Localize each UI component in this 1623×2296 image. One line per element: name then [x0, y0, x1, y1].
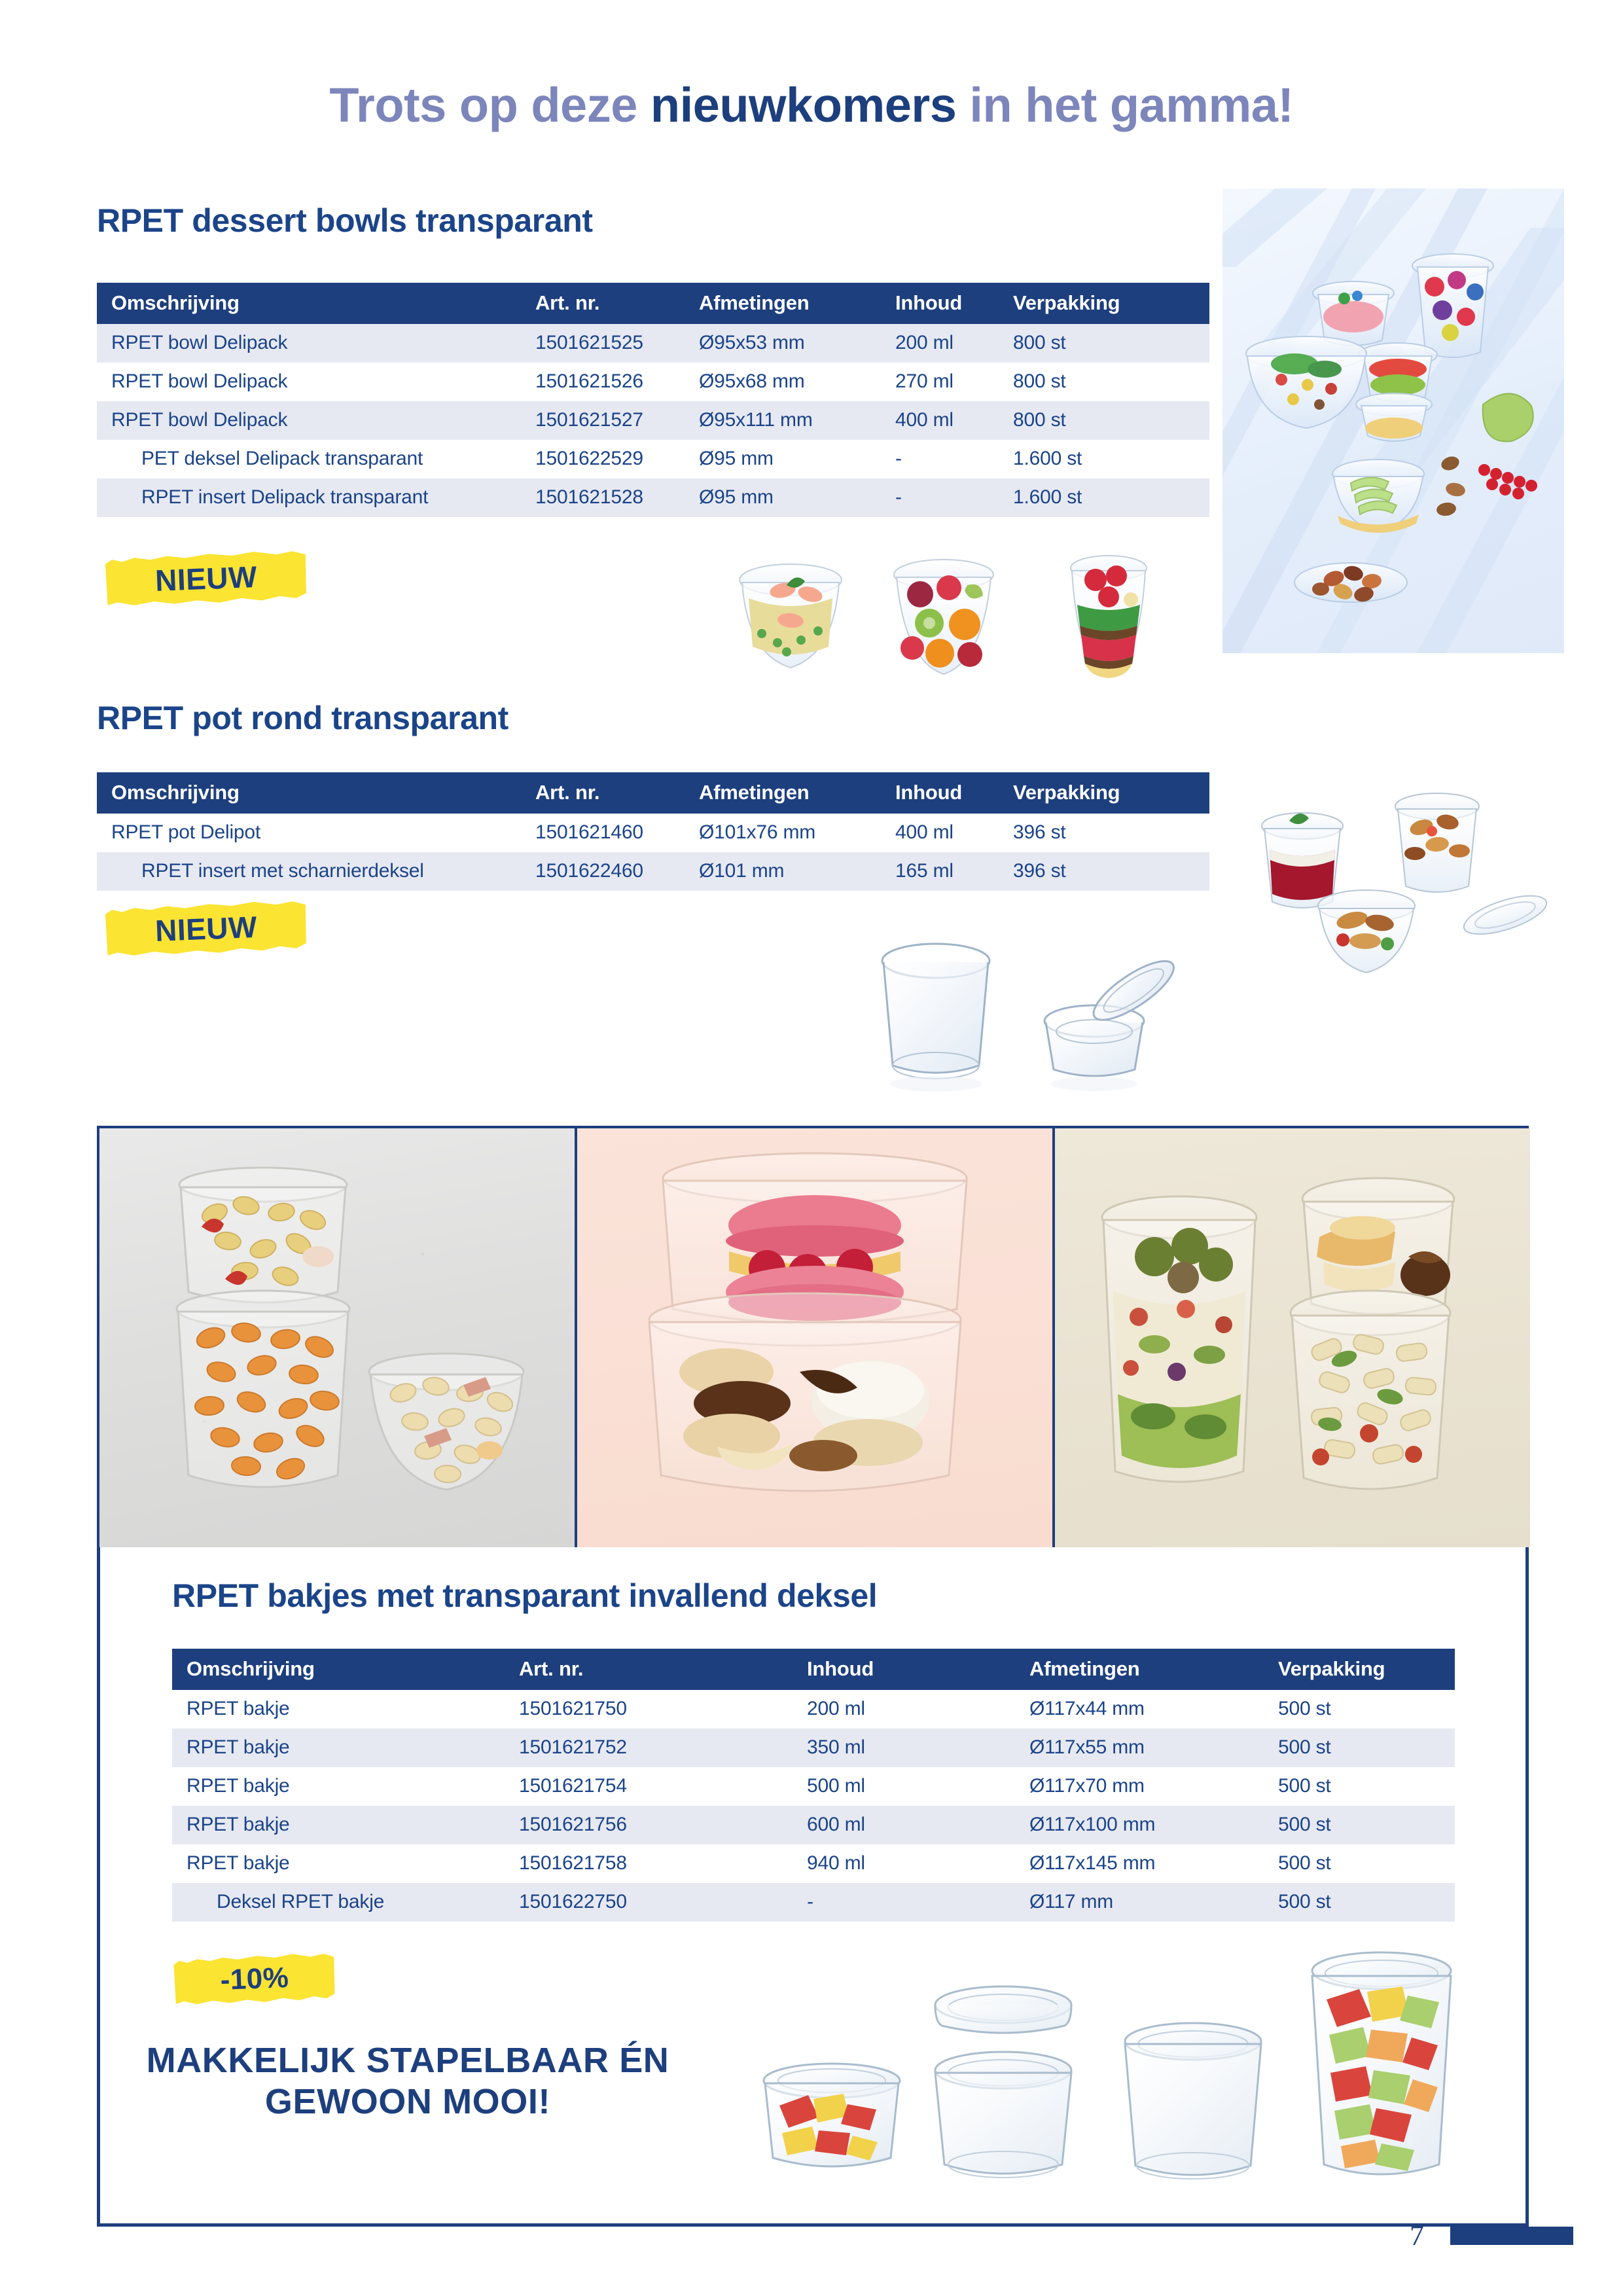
- cell-artnr: 1501622750: [519, 1883, 807, 1922]
- table-row: RPET bakje 1501621754 500 ml Ø117x70 mm …: [172, 1767, 1455, 1806]
- product-photo-dessert-bowls-trio: [713, 542, 1171, 699]
- section-heading-rpet-pot-rond: RPET pot rond transparant: [97, 699, 508, 737]
- cell-afmetingen: Ø117x145 mm: [1029, 1844, 1278, 1883]
- cell-artnr: 1501621526: [535, 363, 699, 401]
- catalog-page: Trots op deze nieuwkomers in het gamma! …: [0, 0, 1623, 2296]
- badge-discount-10: -10%: [173, 1952, 337, 2006]
- product-photo-bakjes-sizes: [741, 1942, 1474, 2204]
- cell-omschrijving: RPET bowl Delipack: [97, 324, 535, 363]
- cell-afmetingen: Ø101 mm: [699, 852, 895, 891]
- page-title: Trots op deze nieuwkomers in het gamma!: [0, 77, 1623, 133]
- cell-inhoud: 400 ml: [895, 401, 1013, 440]
- cell-verpakking: 500 st: [1278, 1844, 1455, 1883]
- cell-verpakking: 800 st: [1013, 401, 1209, 440]
- col-inhoud: Inhoud: [895, 283, 1013, 324]
- cell-artnr: 1501621460: [535, 814, 699, 852]
- cell-verpakking: 500 st: [1278, 1883, 1455, 1922]
- col-afmetingen: Afmetingen: [699, 772, 895, 814]
- photo-macaron-desserts: [577, 1128, 1052, 1547]
- col-omschrijving: Omschrijving: [97, 283, 535, 324]
- col-artnr: Art. nr.: [535, 772, 699, 814]
- cell-omschrijving: RPET bowl Delipack: [97, 401, 535, 440]
- cell-artnr: 1501621754: [519, 1767, 807, 1806]
- col-verpakking: Verpakking: [1013, 283, 1209, 324]
- table-row: RPET bakje 1501621750 200 ml Ø117x44 mm …: [172, 1690, 1455, 1729]
- hero-photo-dessert-bowls: [1222, 188, 1564, 653]
- cell-omschrijving: RPET bakje: [172, 1690, 519, 1729]
- badge-label: NIEUW: [154, 562, 257, 596]
- cell-verpakking: 1.600 st: [1013, 440, 1209, 478]
- cell-afmetingen: Ø95x53 mm: [699, 324, 895, 363]
- cell-inhoud: 165 ml: [895, 852, 1013, 891]
- cell-verpakking: 500 st: [1278, 1767, 1455, 1806]
- cell-inhoud: -: [895, 440, 1013, 478]
- cell-artnr: 1501621527: [535, 401, 699, 440]
- table-row: RPET pot Delipot 1501621460 Ø101x76 mm 4…: [97, 814, 1209, 852]
- pasta-salad-illustration: [99, 1128, 575, 1547]
- col-afmetingen: Afmetingen: [699, 283, 895, 324]
- cell-omschrijving: PET deksel Delipack transparant: [97, 440, 535, 478]
- product-photo-pot-lifestyle: [1243, 766, 1551, 1001]
- cell-verpakking: 800 st: [1013, 363, 1209, 401]
- cell-omschrijving: RPET bakje: [172, 1729, 519, 1767]
- table-rpet-pot-rond: Omschrijving Art. nr. Afmetingen Inhoud …: [97, 772, 1209, 891]
- col-afmetingen: Afmetingen: [1029, 1649, 1278, 1690]
- dessert-bowls-trio-illustration: [713, 542, 1171, 699]
- cell-afmetingen: Ø95x68 mm: [699, 363, 895, 401]
- salad-pasta-cups-illustration: [1055, 1128, 1530, 1547]
- cell-afmetingen: Ø117x100 mm: [1029, 1806, 1278, 1844]
- cell-artnr: 1501621525: [535, 324, 699, 363]
- cell-inhoud: 500 ml: [807, 1767, 1029, 1806]
- pot-lifestyle-illustration: [1243, 766, 1551, 1001]
- cell-afmetingen: Ø95 mm: [699, 440, 895, 478]
- badge-label: NIEUW: [154, 912, 257, 946]
- cell-verpakking: 500 st: [1278, 1690, 1455, 1729]
- table-rpet-dessert-bowls: Omschrijving Art. nr. Afmetingen Inhoud …: [97, 283, 1209, 517]
- hero-photo-illustration: [1222, 188, 1564, 653]
- table-row: RPET insert Delipack transparant 1501621…: [97, 478, 1209, 517]
- table-row: RPET bakje 1501621752 350 ml Ø117x55 mm …: [172, 1729, 1455, 1767]
- cell-omschrijving: RPET insert met scharnierdeksel: [97, 852, 535, 891]
- col-omschrijving: Omschrijving: [172, 1649, 519, 1690]
- col-artnr: Art. nr.: [519, 1649, 807, 1690]
- cell-artnr: 1501621758: [519, 1844, 807, 1883]
- cell-verpakking: 396 st: [1013, 814, 1209, 852]
- cell-omschrijving: RPET bakje: [172, 1767, 519, 1806]
- badge-nieuw-pot-rond: NIEUW: [104, 899, 309, 958]
- product-photo-pot-delipot: [864, 923, 1230, 1100]
- cell-afmetingen: Ø101x76 mm: [699, 814, 895, 852]
- cell-inhoud: 200 ml: [807, 1690, 1029, 1729]
- col-verpakking: Verpakking: [1278, 1649, 1455, 1690]
- photo-band: [99, 1128, 1530, 1547]
- cell-inhoud: 350 ml: [807, 1729, 1029, 1767]
- cell-inhoud: 200 ml: [895, 324, 1013, 363]
- cell-afmetingen: Ø95 mm: [699, 478, 895, 517]
- table-row: RPET bakje 1501621758 940 ml Ø117x145 mm…: [172, 1844, 1455, 1883]
- table-header-row: Omschrijving Art. nr. Afmetingen Inhoud …: [97, 772, 1209, 814]
- col-artnr: Art. nr.: [535, 283, 699, 324]
- col-inhoud: Inhoud: [895, 772, 1013, 814]
- cell-afmetingen: Ø117x44 mm: [1029, 1690, 1278, 1729]
- badge-label: -10%: [220, 1964, 289, 1995]
- section-heading-rpet-dessert-bowls: RPET dessert bowls transparant: [97, 202, 593, 240]
- cell-omschrijving: RPET bakje: [172, 1844, 519, 1883]
- cell-artnr: 1501622529: [535, 440, 699, 478]
- col-verpakking: Verpakking: [1013, 772, 1209, 814]
- table-row: RPET insert met scharnierdeksel 15016224…: [97, 852, 1209, 891]
- cell-artnr: 1501621750: [519, 1690, 807, 1729]
- col-omschrijving: Omschrijving: [97, 772, 535, 814]
- pot-delipot-illustration: [864, 923, 1230, 1100]
- cell-inhoud: -: [807, 1883, 1029, 1922]
- table-row: RPET bowl Delipack 1501621527 Ø95x111 mm…: [97, 401, 1209, 440]
- macaron-desserts-illustration: [577, 1128, 1052, 1547]
- cell-verpakking: 500 st: [1278, 1806, 1455, 1844]
- page-title-highlight: nieuwkomers: [651, 78, 956, 132]
- cell-afmetingen: Ø117x55 mm: [1029, 1729, 1278, 1767]
- photo-pasta-salad-containers: [99, 1128, 575, 1547]
- table-row: RPET bakje 1501621756 600 ml Ø117x100 mm…: [172, 1806, 1455, 1844]
- cell-afmetingen: Ø117x70 mm: [1029, 1767, 1278, 1806]
- table-row: Deksel RPET bakje 1501622750 - Ø117 mm 5…: [172, 1883, 1455, 1922]
- table-header-row: Omschrijving Art. nr. Afmetingen Inhoud …: [97, 283, 1209, 324]
- cell-verpakking: 1.600 st: [1013, 478, 1209, 517]
- cell-artnr: 1501621528: [535, 478, 699, 517]
- table-row: RPET bowl Delipack 1501621526 Ø95x68 mm …: [97, 363, 1209, 401]
- cell-inhoud: 940 ml: [807, 1844, 1029, 1883]
- cell-inhoud: -: [895, 478, 1013, 517]
- cell-omschrijving: RPET insert Delipack transparant: [97, 478, 535, 517]
- cell-artnr: 1501622460: [535, 852, 699, 891]
- cell-omschrijving: Deksel RPET bakje: [172, 1883, 519, 1922]
- cell-afmetingen: Ø95x111 mm: [699, 401, 895, 440]
- table-header-row: Omschrijving Art. nr. Inhoud Afmetingen …: [172, 1649, 1455, 1690]
- photo-salad-pasta-cups: [1055, 1128, 1530, 1547]
- table-row: RPET bowl Delipack 1501621525 Ø95x53 mm …: [97, 324, 1209, 363]
- bakjes-sizes-illustration: [741, 1942, 1474, 2204]
- cell-inhoud: 600 ml: [807, 1806, 1029, 1844]
- cell-artnr: 1501621756: [519, 1806, 807, 1844]
- page-number: 7: [1410, 2219, 1424, 2252]
- badge-nieuw-dessert-bowls: NIEUW: [104, 549, 309, 608]
- cell-omschrijving: RPET bakje: [172, 1806, 519, 1844]
- cell-afmetingen: Ø117 mm: [1029, 1883, 1278, 1922]
- rpet-bakjes-panel: RPET bakjes met transparant invallend de…: [97, 1126, 1529, 2227]
- footer-bar: [1450, 2227, 1573, 2245]
- cell-inhoud: 270 ml: [895, 363, 1013, 401]
- cell-verpakking: 500 st: [1278, 1729, 1455, 1767]
- cell-omschrijving: RPET pot Delipot: [97, 814, 535, 852]
- col-inhoud: Inhoud: [807, 1649, 1029, 1690]
- section-heading-rpet-bakjes: RPET bakjes met transparant invallend de…: [172, 1577, 877, 1615]
- table-row: PET deksel Delipack transparant 15016225…: [97, 440, 1209, 478]
- page-title-part2: in het gamma!: [956, 78, 1293, 132]
- cell-verpakking: 800 st: [1013, 324, 1209, 363]
- cell-artnr: 1501621752: [519, 1729, 807, 1767]
- page-title-part1: Trots op deze: [329, 78, 651, 132]
- cell-omschrijving: RPET bowl Delipack: [97, 363, 535, 401]
- cell-inhoud: 400 ml: [895, 814, 1013, 852]
- cell-verpakking: 396 st: [1013, 852, 1209, 891]
- table-rpet-bakjes: Omschrijving Art. nr. Inhoud Afmetingen …: [172, 1649, 1455, 1922]
- slogan-makkelijk-stapelbaar: MAKKELIJK STAPELBAAR ÉN GEWOON MOOI!: [139, 2040, 676, 2122]
